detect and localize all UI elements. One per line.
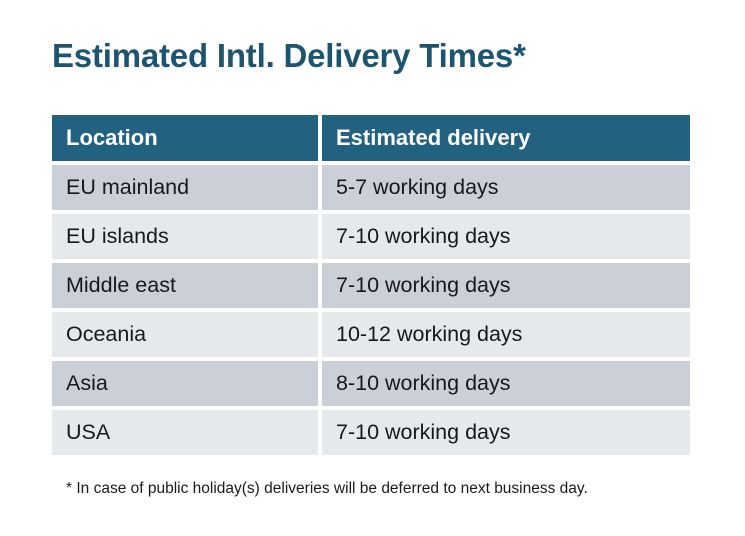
cell-estimated-delivery: 10-12 working days [322,312,690,357]
column-header-location: Location [52,115,318,161]
cell-location: Middle east [52,263,318,308]
cell-estimated-delivery: 8-10 working days [322,361,690,406]
column-header-estimated-delivery: Estimated delivery [322,115,690,161]
estimated-delivery-times-table: Location Estimated delivery EU mainland … [52,115,690,455]
table-row: EU islands 7-10 working days [52,214,690,259]
table-row: Asia 8-10 working days [52,361,690,406]
cell-estimated-delivery: 7-10 working days [322,214,690,259]
table-row: Oceania 10-12 working days [52,312,690,357]
cell-location: Asia [52,361,318,406]
cell-location: EU islands [52,214,318,259]
page-title: Estimated Intl. Delivery Times* [52,36,526,76]
table-row: USA 7-10 working days [52,410,690,455]
footnote-text: * In case of public holiday(s) deliverie… [66,479,588,499]
cell-location: Oceania [52,312,318,357]
cell-location: EU mainland [52,165,318,210]
delivery-times-page: Estimated Intl. Delivery Times* Location… [0,0,745,536]
table-header-row: Location Estimated delivery [52,115,690,161]
table-row: Middle east 7-10 working days [52,263,690,308]
cell-estimated-delivery: 7-10 working days [322,410,690,455]
cell-location: USA [52,410,318,455]
table-row: EU mainland 5-7 working days [52,165,690,210]
cell-estimated-delivery: 5-7 working days [322,165,690,210]
cell-estimated-delivery: 7-10 working days [322,263,690,308]
